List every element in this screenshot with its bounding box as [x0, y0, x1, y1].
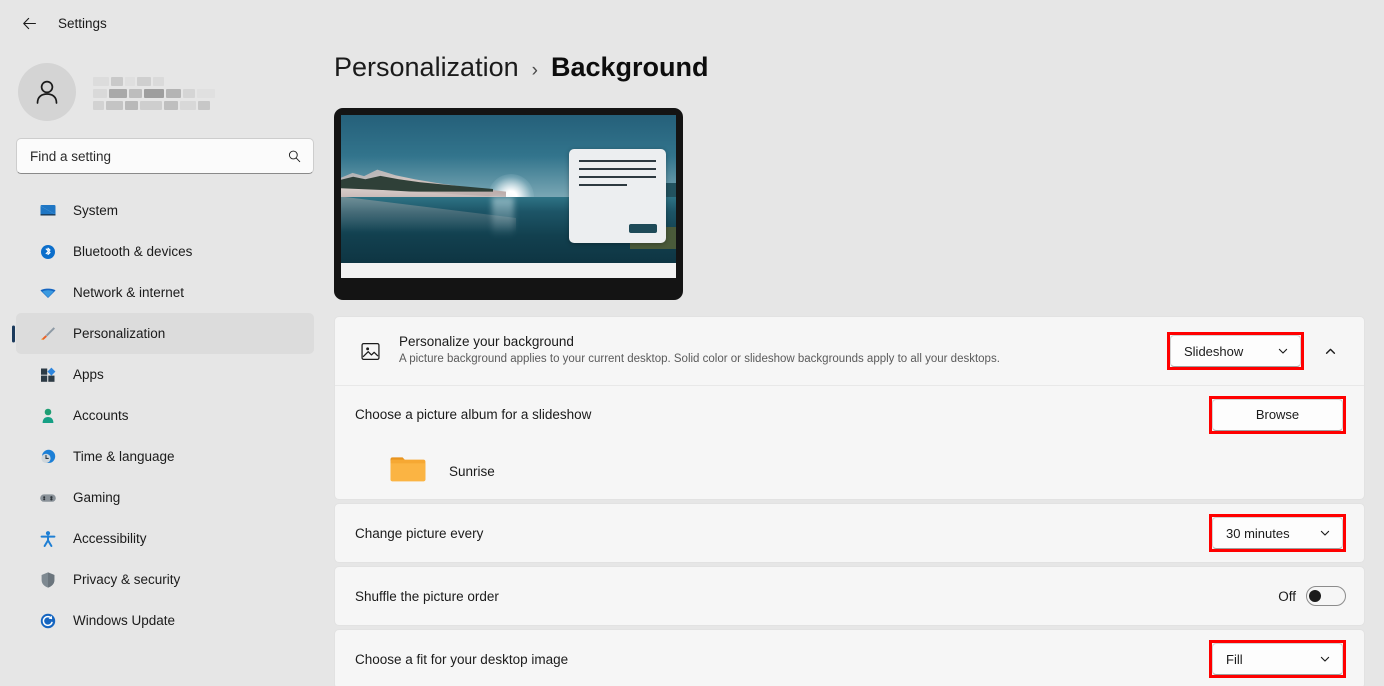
account-tile[interactable] — [0, 46, 330, 124]
desktop-background-preview — [334, 108, 683, 300]
settings-window: Settings — [0, 0, 1384, 686]
sidebar: Settings — [0, 0, 330, 686]
desktop-image-fit-card: Choose a fit for your desktop image Fill — [334, 629, 1365, 686]
person-icon — [38, 406, 57, 425]
row-title: Change picture every — [355, 526, 1209, 541]
update-refresh-icon — [38, 611, 57, 630]
desktop-image-fit-dropdown[interactable]: Fill — [1212, 643, 1343, 675]
annotation-box-browse: Browse — [1209, 396, 1346, 434]
search-icon — [287, 149, 302, 164]
preview-sample-window — [569, 149, 666, 243]
search-placeholder: Find a setting — [30, 149, 287, 164]
account-name-redacted — [93, 75, 215, 110]
sidebar-item-network-internet[interactable]: Network & internet — [16, 272, 314, 313]
chevron-down-icon — [1319, 527, 1331, 539]
gamepad-icon — [38, 488, 57, 507]
collapse-section-button[interactable] — [1314, 335, 1346, 367]
row-title: Choose a picture album for a slideshow — [355, 407, 1209, 422]
preview-sun-reflection — [492, 197, 514, 237]
breadcrumb-parent[interactable]: Personalization — [334, 52, 519, 83]
change-picture-interval-controls: 30 minutes — [1209, 514, 1346, 552]
desktop-image-fit-controls: Fill — [1209, 640, 1346, 678]
sidebar-item-label: Time & language — [73, 449, 175, 464]
preview-screen — [341, 115, 676, 278]
personalize-background-text: Personalize your background A picture ba… — [399, 334, 1167, 368]
preview-window-line — [579, 184, 627, 186]
picture-album-text: Choose a picture album for a slideshow — [355, 407, 1209, 422]
chevron-down-icon — [1277, 345, 1289, 357]
preview-window-button — [629, 224, 657, 233]
row-description: A picture background applies to your cur… — [399, 352, 1167, 368]
sidebar-item-privacy-security[interactable]: Privacy & security — [16, 559, 314, 600]
picture-album-controls: Browse — [1209, 396, 1346, 434]
shuffle-picture-order-text: Shuffle the picture order — [355, 589, 1278, 604]
annotation-box-background-type: Slideshow — [1167, 332, 1304, 370]
sidebar-item-accounts[interactable]: Accounts — [16, 395, 314, 436]
breadcrumb-separator-icon: › — [532, 60, 538, 82]
window-title: Settings — [58, 16, 107, 31]
paintbrush-icon — [38, 324, 57, 343]
back-arrow-icon — [21, 15, 38, 32]
sidebar-item-bluetooth-devices[interactable]: Bluetooth & devices — [16, 231, 314, 272]
row-title: Shuffle the picture order — [355, 589, 1278, 604]
clock-globe-icon — [38, 447, 57, 466]
sidebar-item-windows-update[interactable]: Windows Update — [16, 600, 314, 641]
accessibility-icon — [38, 529, 57, 548]
personalize-background-row: Personalize your background A picture ba… — [335, 317, 1364, 385]
dropdown-value: Slideshow — [1184, 344, 1243, 359]
change-picture-interval-row: Change picture every 30 minutes — [335, 504, 1364, 562]
sidebar-item-accessibility[interactable]: Accessibility — [16, 518, 314, 559]
sidebar-item-label: Privacy & security — [73, 572, 180, 587]
sidebar-item-label: Bluetooth & devices — [73, 244, 192, 259]
sidebar-item-label: Accessibility — [73, 531, 147, 546]
personalize-background-card: Personalize your background A picture ba… — [334, 316, 1365, 500]
monitor-icon — [38, 201, 57, 220]
change-picture-interval-text: Change picture every — [355, 526, 1209, 541]
wifi-icon — [38, 283, 57, 302]
main-content: Personalization › Background — [330, 0, 1384, 686]
sidebar-item-label: System — [73, 203, 118, 218]
personalize-background-controls: Slideshow — [1167, 332, 1346, 370]
dropdown-value: 30 minutes — [1226, 526, 1290, 541]
sidebar-item-label: Windows Update — [73, 613, 175, 628]
picture-icon — [355, 340, 385, 363]
apps-icon — [38, 365, 57, 384]
shuffle-toggle[interactable] — [1306, 586, 1346, 606]
desktop-image-fit-row: Choose a fit for your desktop image Fill — [335, 630, 1364, 686]
sidebar-item-apps[interactable]: Apps — [16, 354, 314, 395]
title-bar: Settings — [0, 0, 330, 46]
page-title: Background — [551, 52, 709, 83]
search-container: Find a setting — [0, 124, 330, 174]
row-title: Personalize your background — [399, 334, 1167, 349]
row-title: Choose a fit for your desktop image — [355, 652, 1209, 667]
bluetooth-icon — [38, 242, 57, 261]
chevron-down-icon — [1319, 653, 1331, 665]
browse-button[interactable]: Browse — [1212, 399, 1343, 431]
avatar — [18, 63, 76, 121]
sidebar-item-label: Accounts — [73, 408, 129, 423]
shuffle-picture-order-controls: Off — [1278, 586, 1346, 606]
sidebar-item-gaming[interactable]: Gaming — [16, 477, 314, 518]
album-name: Sunrise — [449, 464, 495, 479]
sidebar-item-personalization[interactable]: Personalization — [16, 313, 314, 354]
selected-album-item[interactable]: Sunrise — [335, 443, 1364, 499]
sidebar-item-system[interactable]: System — [16, 190, 314, 231]
person-avatar-icon — [31, 76, 63, 108]
chevron-up-icon — [1324, 345, 1337, 358]
shuffle-picture-order-card: Shuffle the picture order Off — [334, 566, 1365, 626]
back-button[interactable] — [14, 8, 44, 38]
preview-taskbar — [341, 263, 676, 278]
sidebar-item-label: Gaming — [73, 490, 120, 505]
navigation-list: System Bluetooth & devices — [0, 190, 330, 641]
dropdown-value: Fill — [1226, 652, 1243, 667]
shuffle-picture-order-row: Shuffle the picture order Off — [335, 567, 1364, 625]
annotation-box-interval: 30 minutes — [1209, 514, 1346, 552]
toggle-knob — [1309, 590, 1321, 602]
button-label: Browse — [1256, 407, 1299, 422]
sidebar-item-label: Apps — [73, 367, 104, 382]
annotation-box-fit: Fill — [1209, 640, 1346, 678]
sidebar-item-label: Network & internet — [73, 285, 184, 300]
folder-icon — [389, 454, 427, 489]
change-picture-interval-dropdown[interactable]: 30 minutes — [1212, 517, 1343, 549]
preview-window-line — [579, 160, 656, 162]
picture-album-row: Choose a picture album for a slideshow B… — [335, 385, 1364, 443]
preview-window-line — [579, 168, 656, 170]
breadcrumb: Personalization › Background — [334, 0, 1384, 83]
sidebar-item-time-language[interactable]: Time & language — [16, 436, 314, 477]
shield-icon — [38, 570, 57, 589]
toggle-state-label: Off — [1278, 589, 1296, 604]
search-input[interactable]: Find a setting — [16, 138, 314, 174]
change-picture-interval-card: Change picture every 30 minutes — [334, 503, 1365, 563]
sidebar-item-label: Personalization — [73, 326, 165, 341]
background-type-dropdown[interactable]: Slideshow — [1170, 335, 1301, 367]
desktop-image-fit-text: Choose a fit for your desktop image — [355, 652, 1209, 667]
preview-window-line — [579, 176, 656, 178]
settings-list: Personalize your background A picture ba… — [334, 316, 1365, 686]
